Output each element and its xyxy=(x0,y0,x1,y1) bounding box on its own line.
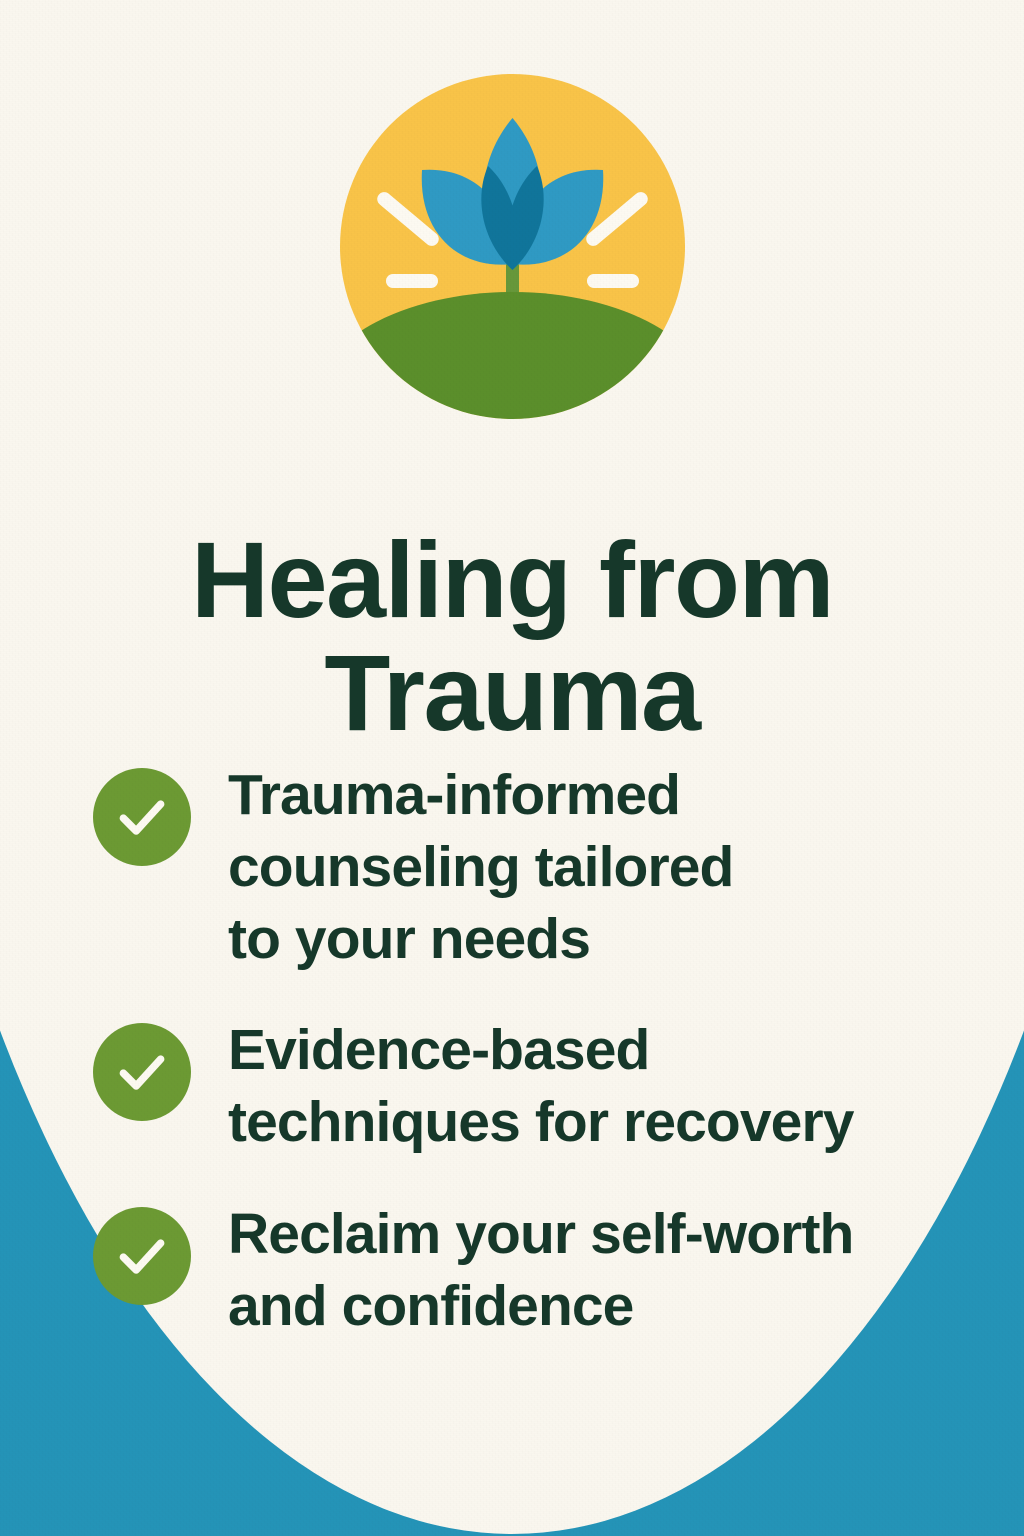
list-item-line: Trauma-informed xyxy=(228,760,733,832)
ray-left-horizontal xyxy=(386,274,438,288)
list-item: Reclaim your self-worth and confidence xyxy=(93,1199,933,1343)
page-title-line-2: Trauma xyxy=(0,637,1024,749)
list-item-line: Evidence-based xyxy=(228,1015,854,1087)
list-item: Evidence-based techniques for recovery xyxy=(93,1015,933,1159)
hero-icon xyxy=(340,74,685,419)
check-icon xyxy=(114,789,170,845)
list-item: Trauma-informed counseling tailored to y… xyxy=(93,760,933,975)
list-item-line: counseling tailored xyxy=(228,832,733,904)
page-title: Healing from Trauma xyxy=(0,524,1024,749)
page-title-line-1: Healing from xyxy=(0,524,1024,636)
list-item-line: to your needs xyxy=(228,904,733,976)
list-item-text: Evidence-based techniques for recovery xyxy=(228,1015,854,1159)
list-item-text: Trauma-informed counseling tailored to y… xyxy=(228,760,733,975)
check-badge xyxy=(93,1023,191,1121)
check-badge xyxy=(93,1207,191,1305)
list-item-line: Reclaim your self-worth xyxy=(228,1199,853,1271)
check-icon xyxy=(114,1044,170,1100)
list-item-line: and confidence xyxy=(228,1271,853,1343)
benefits-list: Trauma-informed counseling tailored to y… xyxy=(93,760,933,1343)
check-icon xyxy=(114,1228,170,1284)
poster-root: Healing from Trauma Trauma-informed coun… xyxy=(0,0,1024,1536)
check-badge xyxy=(93,768,191,866)
list-item-line: techniques for recovery xyxy=(228,1087,854,1159)
ray-right-horizontal xyxy=(587,274,639,288)
list-item-text: Reclaim your self-worth and confidence xyxy=(228,1199,853,1343)
